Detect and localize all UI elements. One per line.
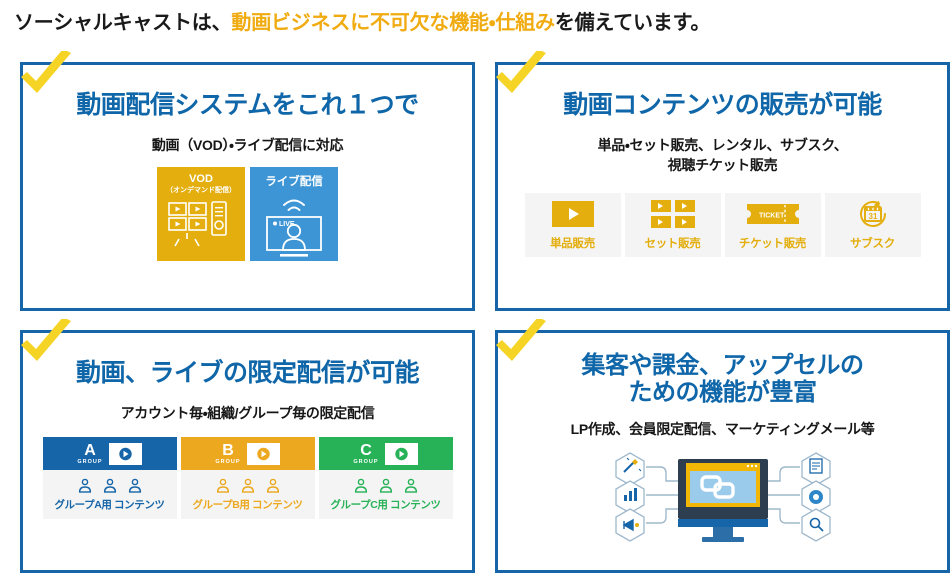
tile-subscription[interactable]: 31 サブスク	[825, 193, 921, 257]
live-panel: ライブ配信 LIVE	[250, 167, 338, 261]
group-letter-text: A	[84, 442, 96, 459]
vod-label-main: VOD	[189, 173, 213, 185]
group-body: グループC用 コンテンツ	[319, 470, 453, 519]
feature-card-video-delivery: 動画配信システムをこれ１つで 動画（VOD）・ライブ配信に対応 VOD （オンデ…	[20, 62, 475, 311]
search-icon	[802, 509, 830, 541]
group-panel-c[interactable]: C GROUP グループC用 コンテンツ	[319, 437, 453, 519]
person-icon	[353, 478, 369, 494]
tile-label: 単品販売	[550, 235, 595, 251]
group-panel-a[interactable]: A GROUP グループA用 コンテンツ	[43, 437, 177, 519]
monitor-foot	[702, 537, 744, 542]
tile-ticket-sale[interactable]: TICKET チケット販売	[725, 193, 821, 257]
card-subtitle: LP作成、会員限定配信、マーケティングメール等	[498, 419, 947, 439]
monitor-link-network-illustration	[498, 445, 947, 545]
tile-single-sale[interactable]: 単品販売	[525, 193, 621, 257]
magic-wand-icon	[616, 453, 644, 485]
group-letter: A GROUP	[77, 443, 102, 466]
tile-set-sale[interactable]: セット販売	[625, 193, 721, 257]
tile-label: セット販売	[645, 235, 701, 251]
group-caption: グループC用 コンテンツ	[330, 497, 440, 512]
live-broadcast-icon: LIVE	[250, 193, 338, 259]
feature-card-limited-delivery: 動画、ライブの限定配信が可能 アカウント毎・組織/グループ毎の限定配信 A GR…	[20, 330, 475, 573]
card-subtitle-line-1: 単品・セット販売、レンタル、サブスク、	[498, 135, 947, 155]
play-thumbnail-icon	[385, 443, 418, 465]
group-people-icons	[215, 478, 281, 494]
card-title: 動画配信システムをこれ１つで	[23, 91, 472, 119]
group-letter-sub: GROUP	[77, 460, 102, 466]
feature-card-content-sales: 動画コンテンツの販売が可能 単品・セット販売、レンタル、サブスク、 視聴チケット…	[495, 62, 950, 311]
card-title: 動画コンテンツの販売が可能	[498, 91, 947, 119]
group-header: A GROUP	[43, 437, 177, 470]
set-of-four-play-icon	[651, 199, 695, 229]
person-icon	[265, 478, 281, 494]
monitor-stand	[713, 527, 733, 537]
group-people-icons	[353, 478, 419, 494]
group-panel-b[interactable]: B GROUP グループB用 コンテンツ	[181, 437, 315, 519]
group-caption: グループA用 コンテンツ	[54, 497, 164, 512]
group-letter-text: B	[222, 442, 234, 459]
vod-panel-label: VOD （オンデマンド配信）	[157, 174, 245, 194]
person-icon	[77, 478, 93, 494]
feature-card-marketing-features: 集客や課金、アップセルの ための機能が豊富 LP作成、会員限定配信、マーケティン…	[495, 330, 950, 573]
ticket-icon-text: TICKET	[759, 212, 785, 219]
sales-method-tiles: 単品販売 セット販売	[498, 193, 947, 257]
group-people-icons	[77, 478, 143, 494]
group-letter-sub: GROUP	[215, 460, 240, 466]
card-title: 動画、ライブの限定配信が可能	[23, 359, 472, 387]
group-caption: グループB用 コンテンツ	[192, 497, 302, 512]
person-icon	[378, 478, 394, 494]
group-letter: B GROUP	[215, 443, 240, 466]
card-subtitle: 動画（VOD）・ライブ配信に対応	[23, 135, 472, 155]
group-header: C GROUP	[319, 437, 453, 470]
play-thumbnail-icon	[109, 443, 142, 465]
group-body: グループA用 コンテンツ	[43, 470, 177, 519]
tile-label: サブスク	[850, 235, 895, 251]
card-title: 集客や課金、アップセルの ための機能が豊富	[498, 353, 947, 407]
card-subtitle-line-2: 視聴チケット販売	[498, 155, 947, 175]
person-icon	[102, 478, 118, 494]
calendar-refresh-icon: 31	[857, 199, 889, 229]
delivery-panels: VOD （オンデマンド配信）	[23, 167, 472, 261]
vod-label-sub: （オンデマンド配信）	[157, 187, 245, 194]
group-letter: C GROUP	[353, 443, 378, 466]
card-title-line-2: ための機能が豊富	[498, 380, 947, 407]
group-letter-sub: GROUP	[353, 460, 378, 466]
person-icon	[127, 478, 143, 494]
calendar-day-number: 31	[868, 212, 877, 221]
feature-card-grid: 動画配信システムをこれ１つで 動画（VOD）・ライブ配信に対応 VOD （オンデ…	[0, 0, 950, 579]
single-play-icon	[552, 199, 594, 229]
tile-label: チケット販売	[739, 235, 806, 251]
group-header: B GROUP	[181, 437, 315, 470]
vod-panel: VOD （オンデマンド配信）	[157, 167, 245, 261]
group-body: グループB用 コンテンツ	[181, 470, 315, 519]
play-thumbnail-icon	[247, 443, 280, 465]
group-letter-text: C	[360, 442, 372, 459]
vod-screens-icon	[157, 197, 245, 257]
person-icon	[240, 478, 256, 494]
card-subtitle: アカウント毎・組織/グループ毎の限定配信	[23, 403, 472, 423]
monitor-base	[678, 519, 768, 527]
card-title-line-1: 集客や課金、アップセルの	[498, 353, 947, 380]
person-icon	[403, 478, 419, 494]
ticket-icon: TICKET	[745, 199, 801, 229]
live-panel-label: ライブ配信	[250, 176, 338, 188]
person-icon	[215, 478, 231, 494]
group-panels: A GROUP グループA用 コンテンツ	[23, 437, 472, 519]
card-subtitle: 単品・セット販売、レンタル、サブスク、 視聴チケット販売	[498, 135, 947, 176]
